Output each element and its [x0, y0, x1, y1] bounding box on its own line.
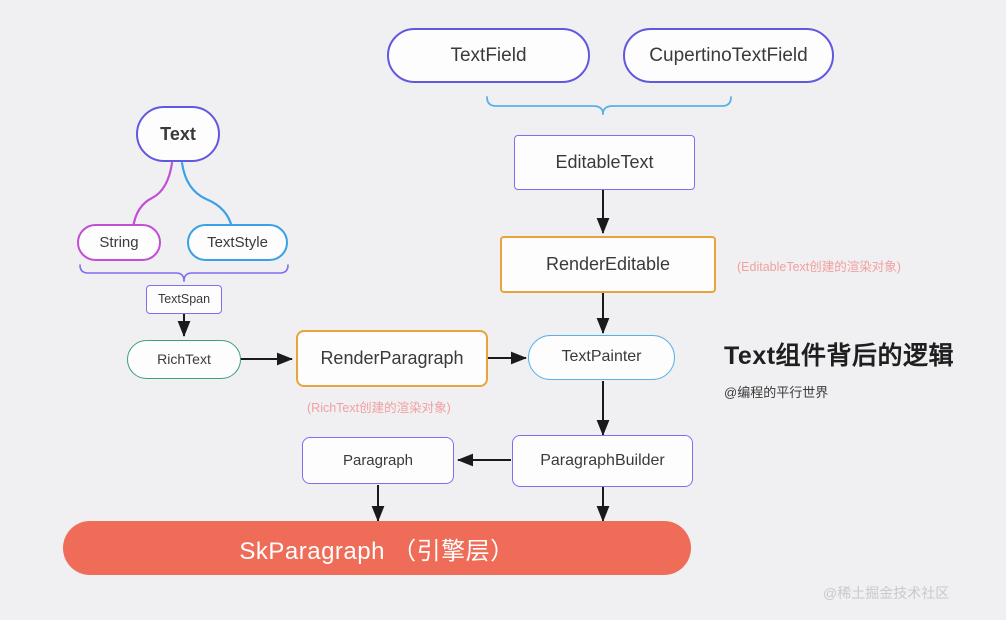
page-title: Text组件背后的逻辑 [724, 336, 954, 372]
node-richtext[interactable]: RichText [127, 340, 241, 379]
node-textspan[interactable]: TextSpan [146, 285, 222, 314]
brace-textfields [487, 97, 731, 114]
author-label: @编程的平行世界 [724, 382, 954, 401]
node-text[interactable]: Text [136, 106, 220, 162]
edge-text-string [133, 163, 172, 228]
title-block: Text组件背后的逻辑 @编程的平行世界 [724, 336, 954, 401]
node-string[interactable]: String [77, 224, 161, 261]
node-textstyle[interactable]: TextStyle [187, 224, 288, 261]
edge-text-textstyle [182, 163, 232, 228]
diagram-canvas: TextField CupertinoTextField EditableTex… [0, 0, 1006, 620]
annotation-renderparagraph: (RichText创建的渲染对象) [307, 397, 451, 416]
node-skparagraph[interactable]: SkParagraph （引擎层） [63, 521, 691, 575]
node-cupertinotextfield[interactable]: CupertinoTextField [623, 28, 834, 83]
node-rendereditable[interactable]: RenderEditable [500, 236, 716, 293]
node-paragraphbuilder[interactable]: ParagraphBuilder [512, 435, 693, 487]
annotation-rendereditable: (EditableText创建的渲染对象) [737, 256, 901, 275]
node-textpainter[interactable]: TextPainter [528, 335, 675, 380]
brace-textspan [80, 265, 288, 281]
watermark: @稀土掘金技术社区 [823, 583, 949, 603]
node-textfield[interactable]: TextField [387, 28, 590, 83]
node-paragraph[interactable]: Paragraph [302, 437, 454, 484]
node-editabletext[interactable]: EditableText [514, 135, 695, 190]
node-renderparagraph[interactable]: RenderParagraph [296, 330, 488, 387]
